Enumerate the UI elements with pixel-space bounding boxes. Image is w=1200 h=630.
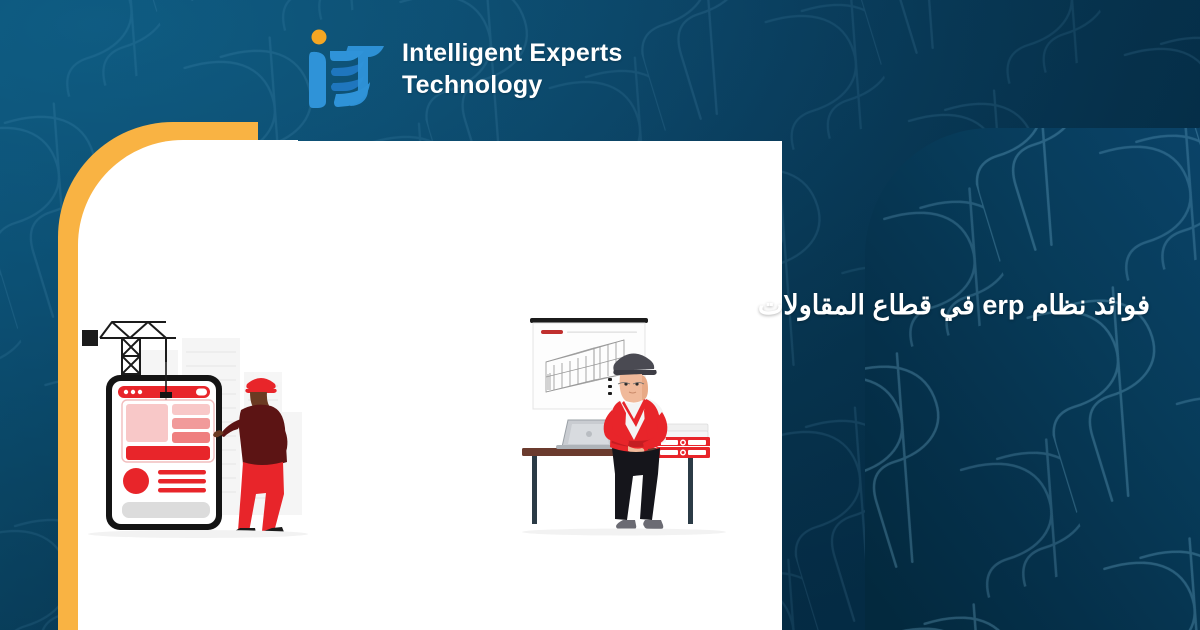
mobile-construction-illustration	[78, 300, 328, 540]
iet-monogram-icon	[300, 28, 386, 110]
phone-floating-card	[122, 400, 214, 462]
engineer-desk-illustration	[512, 300, 742, 540]
headline-panel	[700, 126, 1200, 630]
binder-red-2	[656, 447, 710, 458]
smartphone-mockup	[106, 362, 222, 530]
brand-name: Intelligent Experts Technology	[402, 37, 623, 102]
brand-logo-block[interactable]: Intelligent Experts Technology	[300, 28, 623, 110]
speech-dots-icon	[608, 378, 612, 395]
engineer-trousers	[612, 448, 660, 520]
ground-shadow	[522, 529, 726, 536]
orange-dot-icon	[312, 30, 327, 45]
phone-bottom-bar	[122, 502, 210, 518]
phone-text-lines	[158, 470, 206, 493]
poster-canvas: Intelligent Experts Technology	[0, 0, 1200, 630]
blueprint-title-bar	[541, 330, 563, 334]
headline-text: فوائد نظام erp في قطاع المقاولات	[530, 286, 1150, 325]
ground-shadow	[88, 530, 308, 538]
phone-avatar-circle	[123, 468, 149, 494]
